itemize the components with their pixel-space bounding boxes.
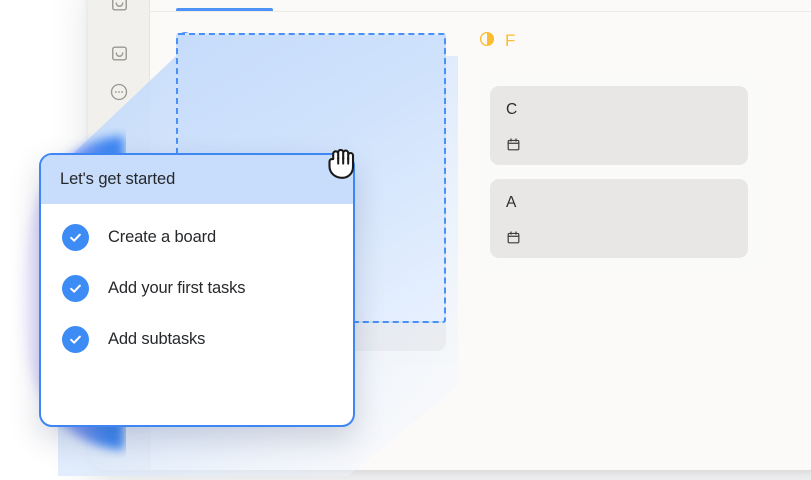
check-circle-icon[interactable]	[62, 275, 89, 302]
checklist-item[interactable]: Create a board	[41, 224, 353, 251]
popup-title: Let's get started	[60, 170, 175, 189]
checklist: Create a board Add your first tasks Add …	[41, 204, 353, 353]
calendar-icon[interactable]	[506, 230, 521, 245]
check-circle-icon[interactable]	[62, 224, 89, 251]
checklist-item[interactable]: Add your first tasks	[41, 275, 353, 302]
task-card-meta	[506, 229, 732, 245]
task-card-meta	[506, 136, 732, 152]
tab-active-indicator	[176, 8, 273, 11]
popup-header: Let's get started	[41, 155, 353, 204]
sidebar-item-inbox-top[interactable]	[107, 0, 131, 15]
task-card-title: C	[506, 101, 732, 119]
checklist-item-label: Create a board	[108, 228, 216, 247]
checklist-item-label: Add subtasks	[108, 330, 205, 349]
grabbing-hand-cursor	[323, 142, 363, 184]
sidebar-item-inbox-second[interactable]	[107, 41, 131, 65]
column-card-list: C A	[476, 72, 762, 272]
inbox-tray-icon	[110, 0, 129, 13]
more-options-circle-icon	[109, 82, 129, 102]
task-card[interactable]: A	[490, 179, 748, 258]
column-for-review: F C	[476, 28, 762, 470]
inbox-tray-icon	[110, 44, 129, 63]
task-card[interactable]: C	[490, 86, 748, 165]
task-card-title: A	[506, 194, 732, 212]
half-filled-circle-icon	[478, 30, 496, 53]
column-title: F	[505, 31, 515, 51]
onboarding-checklist-popup[interactable]: Let's get started Create a board Add you…	[39, 153, 355, 427]
checklist-item-label: Add your first tasks	[108, 279, 245, 298]
column-header[interactable]: F	[476, 28, 762, 54]
sidebar-item-more-options[interactable]	[107, 80, 131, 104]
checklist-item[interactable]: Add subtasks	[41, 326, 353, 353]
board-tab-strip	[150, 0, 811, 12]
calendar-icon[interactable]	[506, 137, 521, 152]
check-circle-icon[interactable]	[62, 326, 89, 353]
